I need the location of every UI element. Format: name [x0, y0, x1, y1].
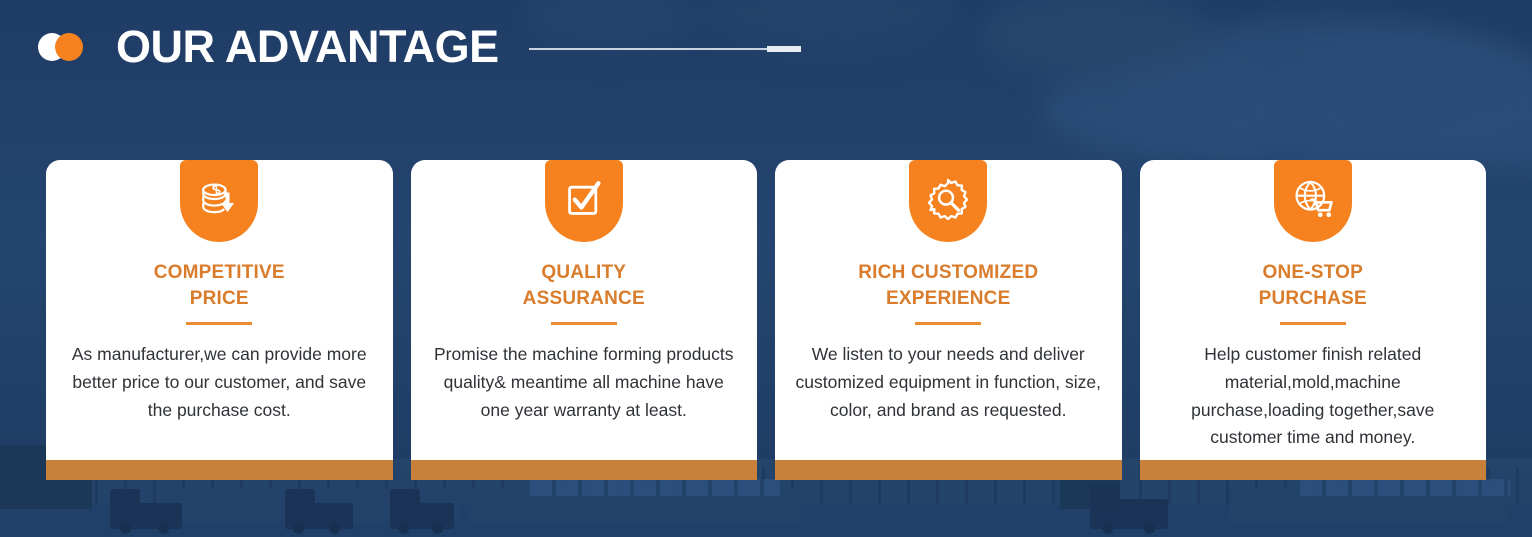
- card-title: COMPETITIVE PRICE: [154, 260, 285, 311]
- advantage-card[interactable]: ONE-STOP PURCHASE Help customer finish r…: [1140, 160, 1487, 480]
- card-description: Promise the machine forming products qua…: [429, 341, 740, 424]
- card-body: QUALITY ASSURANCE Promise the machine fo…: [411, 160, 758, 460]
- truck-wheel: [293, 523, 304, 534]
- rule-thick-segment: [767, 46, 801, 52]
- dock-window-strip: [530, 479, 780, 496]
- truck-icon: [390, 503, 454, 529]
- coins-stack-down-arrow-icon: [180, 160, 258, 242]
- truck-icon: [110, 503, 182, 529]
- card-footer-bar: [46, 460, 393, 480]
- card-title: ONE-STOP PURCHASE: [1259, 260, 1367, 311]
- dock-window-strip: [1300, 479, 1510, 496]
- page-title: OUR ADVANTAGE: [116, 24, 499, 69]
- advantage-card-list: COMPETITIVE PRICE As manufacturer,we can…: [46, 160, 1486, 480]
- circle-orange-icon: [55, 33, 83, 61]
- section-header: OUR ADVANTAGE: [38, 24, 801, 69]
- truck-cab: [1090, 485, 1120, 503]
- truck-wheel: [432, 523, 443, 534]
- card-description: We listen to your needs and deliver cust…: [793, 341, 1104, 424]
- card-divider: [915, 322, 981, 325]
- card-body: RICH CUSTOMIZED EXPERIENCE We listen to …: [775, 160, 1122, 460]
- horizontal-rule-decoration: [529, 45, 801, 53]
- rule-thin-segment: [529, 48, 801, 50]
- truck-cab: [390, 489, 420, 507]
- checkbox-check-icon: [545, 160, 623, 242]
- truck-wheel: [329, 523, 340, 534]
- card-description: Help customer finish related material,mo…: [1158, 341, 1469, 452]
- truck-icon: [1090, 499, 1168, 529]
- card-title: RICH CUSTOMIZED EXPERIENCE: [858, 260, 1038, 311]
- advantage-card[interactable]: COMPETITIVE PRICE As manufacturer,we can…: [46, 160, 393, 480]
- truck-wheel: [398, 523, 409, 534]
- card-body: COMPETITIVE PRICE As manufacturer,we can…: [46, 160, 393, 460]
- bullet-dots-icon: [38, 31, 94, 63]
- card-description: As manufacturer,we can provide more bett…: [64, 341, 375, 424]
- globe-shopping-cart-icon: [1274, 160, 1352, 242]
- truck-wheel: [120, 523, 131, 534]
- card-divider: [186, 322, 252, 325]
- truck-cab: [285, 489, 315, 507]
- gear-magnifier-icon: [909, 160, 987, 242]
- card-footer-bar: [1140, 460, 1487, 480]
- truck-icon: [285, 503, 353, 529]
- truck-wheel: [1102, 523, 1113, 534]
- truck-cab: [110, 489, 140, 507]
- card-divider: [1280, 322, 1346, 325]
- card-body: ONE-STOP PURCHASE Help customer finish r…: [1140, 160, 1487, 460]
- truck-wheel: [158, 523, 169, 534]
- truck-wheel: [1144, 523, 1155, 534]
- card-divider: [551, 322, 617, 325]
- card-title: QUALITY ASSURANCE: [523, 260, 645, 311]
- advantage-card[interactable]: RICH CUSTOMIZED EXPERIENCE We listen to …: [775, 160, 1122, 480]
- card-footer-bar: [775, 460, 1122, 480]
- advantage-section: OUR ADVANTAGE: [0, 0, 1532, 537]
- advantage-card[interactable]: QUALITY ASSURANCE Promise the machine fo…: [411, 160, 758, 480]
- card-footer-bar: [411, 460, 758, 480]
